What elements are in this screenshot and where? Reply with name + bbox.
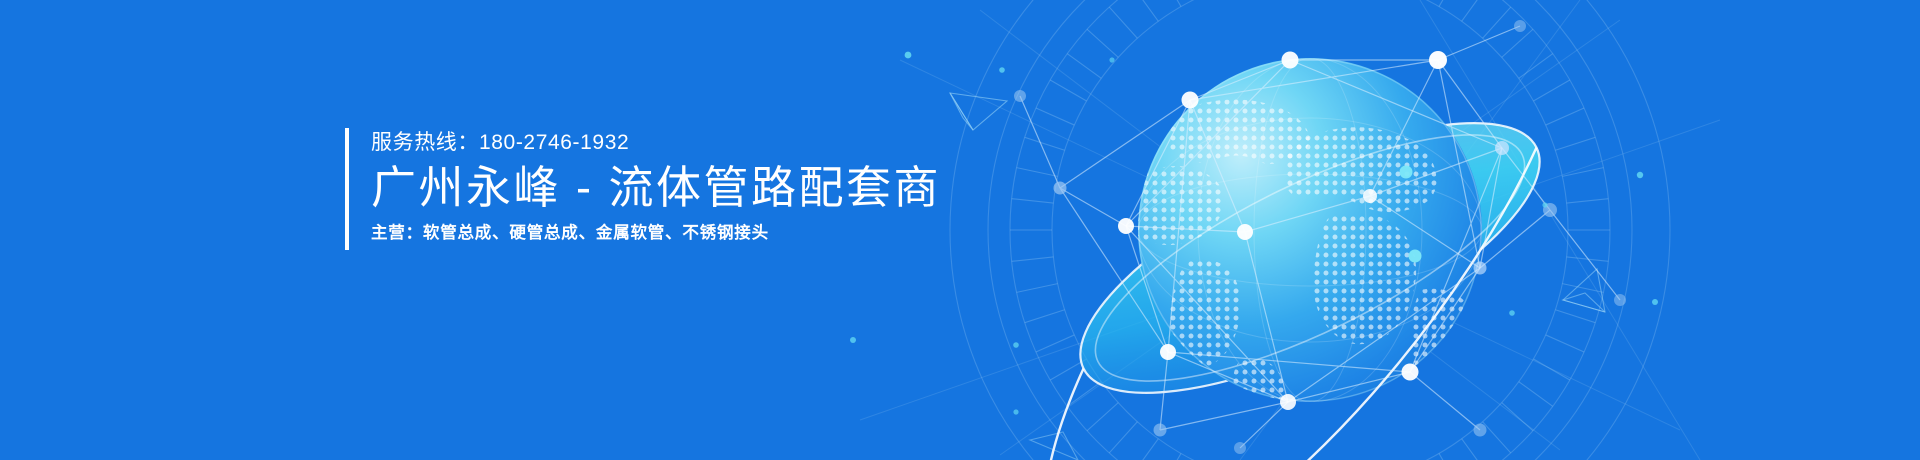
product-list-subtitle: 主营：软管总成、硬管总成、金属软管、不锈钢接头 bbox=[371, 222, 941, 244]
page-title: 广州永峰 - 流体管路配套商 bbox=[371, 160, 941, 216]
company-hero-banner: 服务热线：180-2746-1932 广州永峰 - 流体管路配套商 主营：软管总… bbox=[0, 0, 1920, 460]
service-hotline: 服务热线：180-2746-1932 bbox=[371, 130, 941, 156]
accent-bar bbox=[345, 128, 349, 250]
network-globe-illustration bbox=[0, 0, 1920, 460]
text-column: 服务热线：180-2746-1932 广州永峰 - 流体管路配套商 主营：软管总… bbox=[371, 128, 941, 250]
banner-text-block: 服务热线：180-2746-1932 广州永峰 - 流体管路配套商 主营：软管总… bbox=[345, 128, 941, 250]
